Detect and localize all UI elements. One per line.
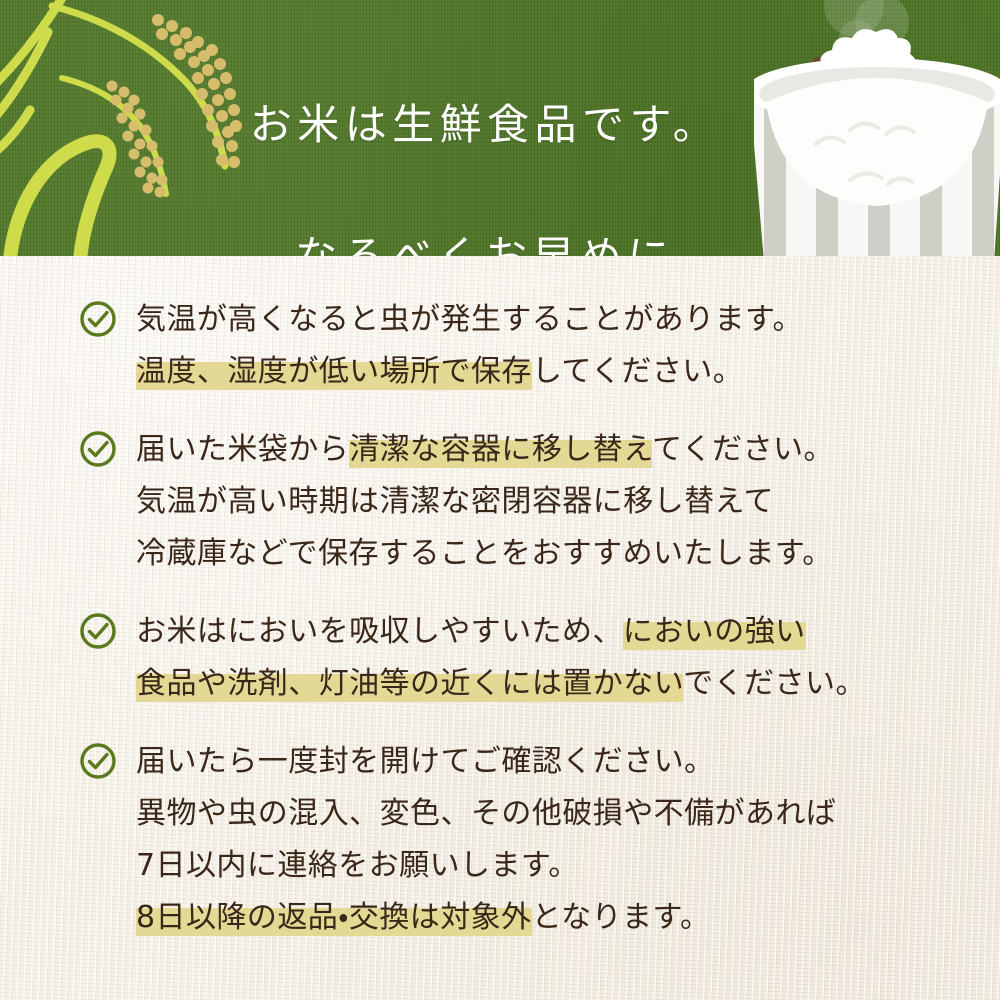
bullet-text-block: 届いたら一度封を開けてご確認ください。異物や虫の混入、変色、その他破損や不備があ… bbox=[136, 736, 836, 944]
plain-text: 7日以内に連絡をお願いします。 bbox=[136, 848, 579, 883]
plain-text: となります。 bbox=[532, 900, 711, 935]
bullet-line: 7日以内に連絡をお願いします。 bbox=[136, 840, 836, 892]
bullet-text-block: 届いた米袋から清潔な容器に移し替えてください。気温が高い時期は清潔な密閉容器に移… bbox=[136, 424, 834, 580]
plain-text: してください。 bbox=[532, 354, 743, 389]
highlighted-text: 8日以降の返品・交換は対象外 bbox=[136, 900, 532, 936]
bullet-line: 異物や虫の混入、変色、その他破損や不備があれば bbox=[136, 788, 836, 840]
bullet-item: お米はにおいを吸収しやすいため、においの強い食品や洗剤、灯油等の近くには置かない… bbox=[0, 606, 1000, 710]
check-circle-icon bbox=[78, 299, 118, 339]
highlighted-text: 温度、湿度が低い場所で保存 bbox=[136, 354, 532, 390]
bullet-line: 食品や洗剤、灯油等の近くには置かないでください。 bbox=[136, 658, 866, 710]
plain-text: 届いたら一度封を開けてご確認ください。 bbox=[136, 744, 715, 779]
check-circle-icon bbox=[78, 429, 118, 469]
bullet-line: 気温が高い時期は清潔な密閉容器に移し替えて bbox=[136, 476, 834, 528]
bullet-line: 届いたら一度封を開けてご確認ください。 bbox=[136, 736, 836, 788]
check-circle-icon bbox=[78, 741, 118, 781]
check-circle-icon bbox=[78, 611, 118, 651]
plain-text: 異物や虫の混入、変色、その他破損や不備があれば bbox=[136, 796, 836, 831]
check-circle-icon bbox=[78, 611, 118, 651]
plain-text: 気温が高い時期は清潔な密閉容器に移し替えて bbox=[136, 484, 774, 519]
bullet-line: お米はにおいを吸収しやすいため、においの強い bbox=[136, 606, 866, 658]
bullet-line: 冷蔵庫などで保存することをおすすめいたします。 bbox=[136, 528, 834, 580]
highlighted-text: においの強い bbox=[623, 614, 806, 650]
bullet-line: 温度、湿度が低い場所で保存してください。 bbox=[136, 346, 803, 398]
plain-text: てください。 bbox=[652, 432, 834, 467]
bullet-line: 8日以降の返品・交換は対象外となります。 bbox=[136, 892, 836, 944]
check-circle-icon bbox=[78, 429, 118, 469]
bullet-text-block: 気温が高くなると虫が発生することがあります。温度、湿度が低い場所で保存してくださ… bbox=[136, 294, 803, 398]
plain-text: 気温が高くなると虫が発生することがあります。 bbox=[136, 302, 803, 337]
bullet-list: 気温が高くなると虫が発生することがあります。温度、湿度が低い場所で保存してくださ… bbox=[0, 256, 1000, 944]
check-circle-icon bbox=[78, 741, 118, 781]
header-banner: お米は生鮮食品です。 なるべくお早めに お召し上がりください。 bbox=[0, 0, 1000, 256]
check-circle-icon bbox=[78, 299, 118, 339]
rice-bowl-icon bbox=[754, 0, 1000, 256]
highlighted-text: 清潔な容器に移し替え bbox=[349, 432, 652, 468]
bullet-item: 気温が高くなると虫が発生することがあります。温度、湿度が低い場所で保存してくださ… bbox=[0, 294, 1000, 398]
bowl-icon bbox=[754, 58, 1000, 256]
plain-text: 届いた米袋から bbox=[136, 432, 349, 467]
bullet-line: 届いた米袋から清潔な容器に移し替えてください。 bbox=[136, 424, 834, 476]
plain-text: 冷蔵庫などで保存することをおすすめいたします。 bbox=[136, 536, 833, 571]
rice-storage-instructions-page: お米は生鮮食品です。 なるべくお早めに お召し上がりください。 bbox=[0, 0, 1000, 1000]
instructions-body: 気温が高くなると虫が発生することがあります。温度、湿度が低い場所で保存してくださ… bbox=[0, 256, 1000, 1000]
bullet-item: 届いたら一度封を開けてご確認ください。異物や虫の混入、変色、その他破損や不備があ… bbox=[0, 736, 1000, 944]
bullet-item: 届いた米袋から清潔な容器に移し替えてください。気温が高い時期は清潔な密閉容器に移… bbox=[0, 424, 1000, 580]
highlighted-text: 食品や洗剤、灯油等の近くには置かない bbox=[136, 666, 683, 702]
plain-text: お米はにおいを吸収しやすいため、 bbox=[136, 614, 623, 649]
bullet-text-block: お米はにおいを吸収しやすいため、においの強い食品や洗剤、灯油等の近くには置かない… bbox=[136, 606, 866, 710]
plain-text: でください。 bbox=[683, 666, 866, 701]
bullet-line: 気温が高くなると虫が発生することがあります。 bbox=[136, 294, 803, 346]
